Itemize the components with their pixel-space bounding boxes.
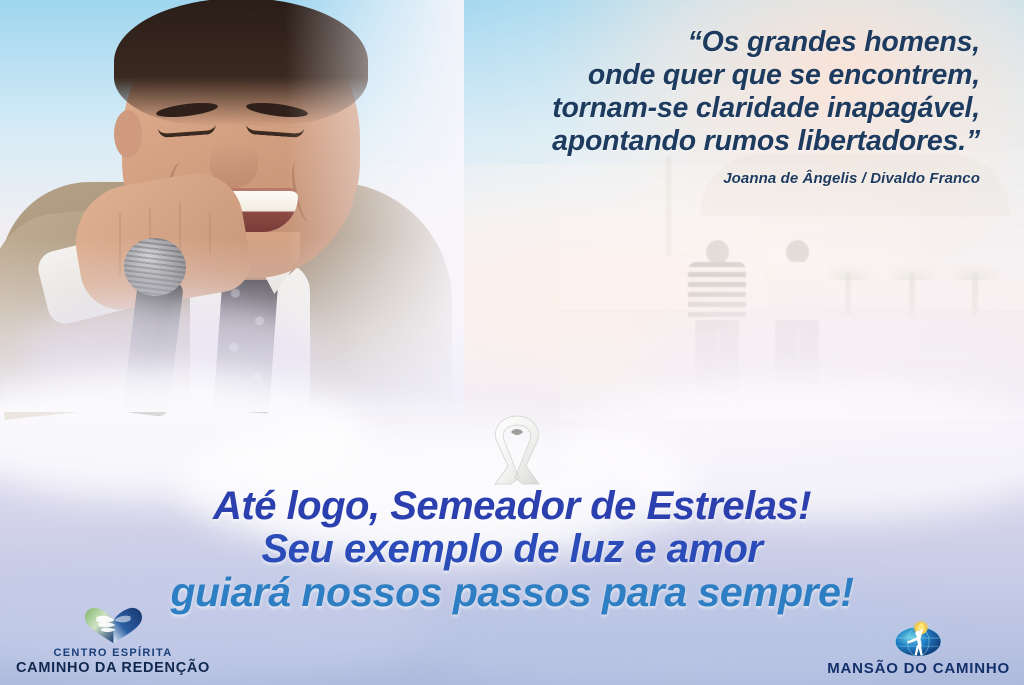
quote-line-4: apontando rumos libertadores.” — [360, 125, 980, 158]
tribute-poster: “Os grandes homens, onde quer que se enc… — [0, 0, 1024, 685]
headline-line-2: Seu exemplo de luz e amor — [0, 529, 1024, 569]
mourning-ribbon-icon — [481, 410, 553, 490]
globe-torch-figure-icon — [890, 618, 946, 658]
logo-left-line-2: CAMINHO DA REDENÇÃO — [16, 660, 210, 677]
logo-right-line-2: MANSÃO DO CAMINHO — [827, 660, 1010, 677]
headline-block: Até logo, Semeador de Estrelas! Seu exem… — [0, 486, 1024, 613]
heart-hands-icon — [83, 605, 144, 645]
headline-line-1: Até logo, Semeador de Estrelas! — [0, 486, 1024, 526]
scene-fade-overlay — [560, 150, 1024, 420]
quote-attribution: Joanna de Ângelis / Divaldo Franco — [360, 170, 980, 187]
quote-line-3: tornam-se claridade inapagável, — [360, 92, 980, 125]
quote-block: “Os grandes homens, onde quer que se enc… — [360, 26, 980, 187]
logo-left-line-1: CENTRO ESPÍRITA — [16, 647, 210, 660]
quote-line-1: “Os grandes homens, — [360, 26, 980, 59]
background-scene-photo — [560, 150, 1024, 420]
quote-line-2: onde quer que se encontrem, — [360, 59, 980, 92]
logo-centro-espirita: CENTRO ESPÍRITA CAMINHO DA REDENÇÃO — [16, 605, 210, 677]
logo-mansao-do-caminho: MANSÃO DO CAMINHO — [827, 618, 1010, 677]
